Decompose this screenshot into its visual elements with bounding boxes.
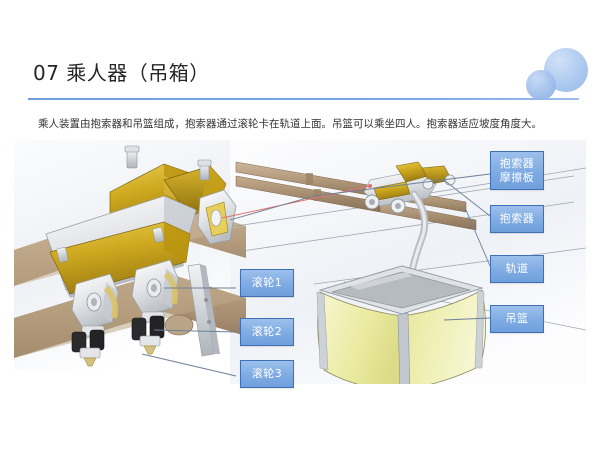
callout-roller-2[interactable]: 滚轮2 <box>240 318 294 346</box>
slide-root: 07 乘人器（吊箱） 乘人装置由抱索器和吊篮组成，抱索器通过滚轮卡在轨道上面。吊… <box>0 0 600 450</box>
callout-grip-label: 抱索器 <box>500 212 535 226</box>
callout-roller-1[interactable]: 滚轮1 <box>240 269 294 297</box>
callout-grip[interactable]: 抱索器 <box>490 205 544 233</box>
page-title: 07 乘人器（吊箱） <box>33 57 210 86</box>
callout-gondola[interactable]: 吊篮 <box>490 305 544 333</box>
small-blue-circle-icon <box>526 70 556 100</box>
header-decoration <box>514 44 592 106</box>
callout-grip-friction-plate-line1: 抱索器 <box>500 157 535 171</box>
gondola-cabin <box>317 266 486 384</box>
detail-link-marker <box>368 184 372 188</box>
title-divider <box>28 98 579 100</box>
callout-gondola-label: 吊篮 <box>506 312 529 326</box>
callout-track[interactable]: 轨道 <box>490 255 544 283</box>
callout-roller-3[interactable]: 滚轮3 <box>240 360 294 388</box>
callout-grip-friction-plate[interactable]: 抱索器 摩擦板 <box>490 151 544 190</box>
callout-roller-1-label: 滚轮1 <box>252 276 283 290</box>
callout-grip-friction-plate-line2: 摩擦板 <box>500 171 535 185</box>
callout-roller-3-label: 滚轮3 <box>252 367 283 381</box>
callout-track-label: 轨道 <box>506 262 529 276</box>
callout-roller-2-label: 滚轮2 <box>252 325 283 339</box>
subtitle-text: 乘人装置由抱索器和吊篮组成，抱索器通过滚轮卡在轨道上面。吊篮可以乘坐四人。抱索器… <box>38 117 578 131</box>
